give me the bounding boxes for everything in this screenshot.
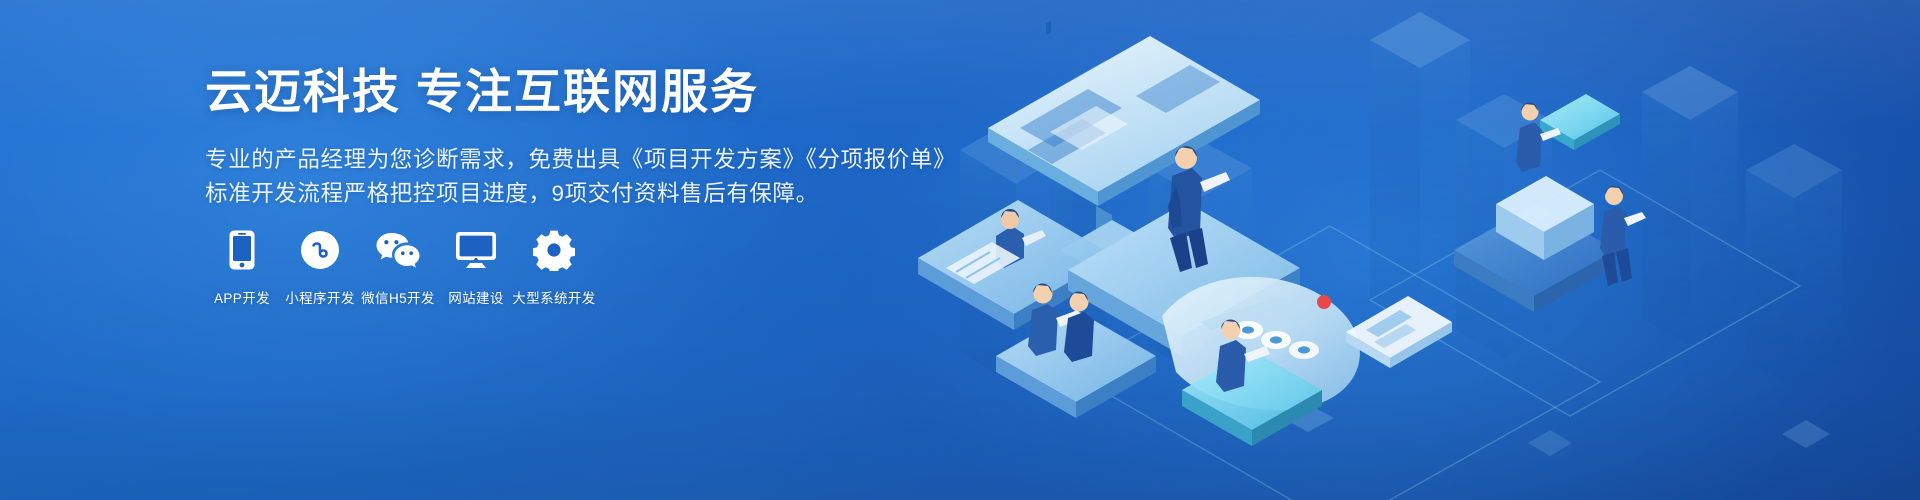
mini-program-icon (300, 228, 340, 272)
hero-subtitle: 专业的产品经理为您诊断需求，免费出具《项目开发方案》《分项报价单》 标准开发流程… (205, 143, 905, 211)
service-item-website[interactable]: 网站建设 (439, 228, 513, 307)
page-title: 云迈科技 专注互联网服务 (205, 66, 905, 119)
service-item-large-system[interactable]: 大型系统开发 (517, 228, 591, 307)
service-label: 大型系统开发 (512, 287, 595, 307)
service-label: APP开发 (214, 287, 270, 307)
hero-copy: 云迈科技 专注互联网服务 专业的产品经理为您诊断需求，免费出具《项目开发方案》《… (205, 66, 905, 211)
isometric-tech-team-illustration (900, 0, 1920, 500)
subtitle-line-2: 标准开发流程严格把控项目进度，9项交付资料售后有保障。 (205, 177, 905, 211)
monitor-icon (454, 228, 498, 272)
gear-icon (533, 228, 575, 272)
service-label: 网站建设 (448, 287, 504, 307)
subtitle-line-1: 专业的产品经理为您诊断需求，免费出具《项目开发方案》《分项报价单》 (205, 143, 905, 177)
service-label: 微信H5开发 (361, 287, 435, 307)
wechat-icon (375, 228, 421, 272)
service-list: APP开发 小程序开发 微信 (205, 228, 595, 307)
service-item-app[interactable]: APP开发 (205, 228, 279, 307)
mobile-phone-icon (228, 228, 256, 272)
hero-banner: 云迈科技 专注互联网服务 专业的产品经理为您诊断需求，免费出具《项目开发方案》《… (0, 0, 1920, 500)
service-item-mini-program[interactable]: 小程序开发 (283, 228, 357, 307)
service-label: 小程序开发 (285, 287, 355, 307)
service-item-wechat-h5[interactable]: 微信H5开发 (361, 228, 435, 307)
